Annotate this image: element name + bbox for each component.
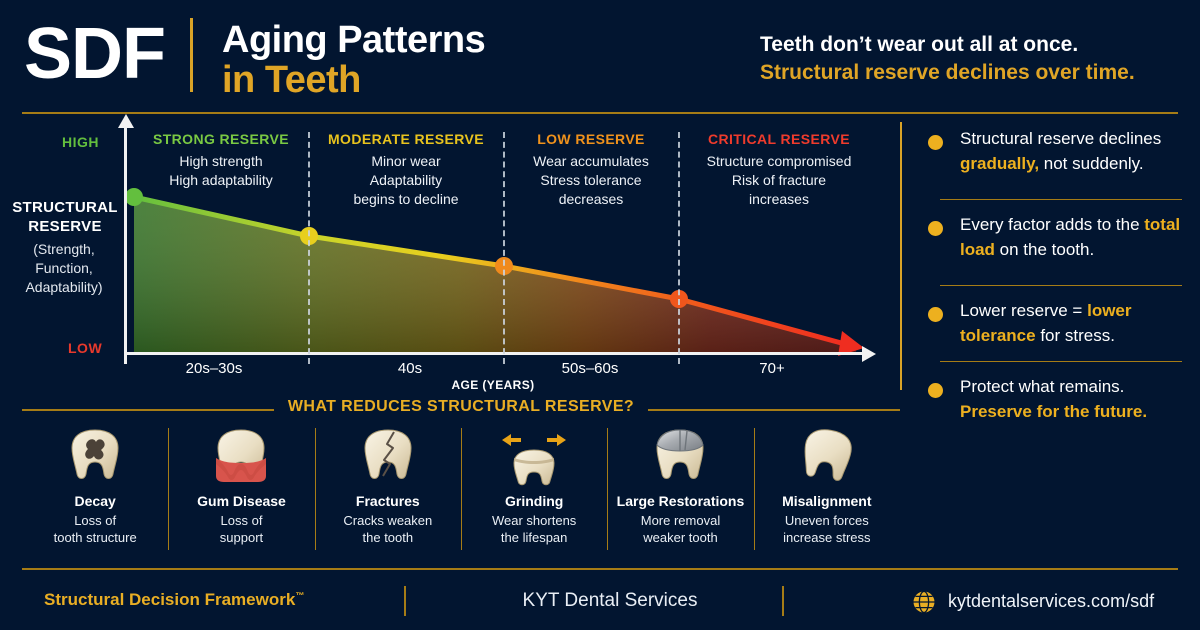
insight-separator xyxy=(940,199,1182,200)
tooth-crown-icon xyxy=(607,424,753,486)
tooth-decay-icon xyxy=(22,424,168,486)
reducer-name: Fractures xyxy=(315,492,461,510)
tagline-line1: Teeth don’t wear out all at once. xyxy=(760,32,1078,58)
tooth-misalignment-icon xyxy=(754,424,900,486)
reducer-desc: Cracks weakenthe tooth xyxy=(315,512,461,546)
y-axis-line xyxy=(124,126,127,364)
insight-item: Every factor adds to the total load on t… xyxy=(920,212,1182,278)
reducer-name: Decay xyxy=(22,492,168,510)
insight-item: Lower reserve = lower tolerance for stre… xyxy=(920,298,1182,354)
reducer-name: Misalignment xyxy=(754,492,900,510)
footer-separator-1 xyxy=(404,586,406,616)
bullet-dot-icon xyxy=(928,383,943,398)
globe-icon xyxy=(912,590,936,619)
page-title-line2: in Teeth xyxy=(222,60,361,100)
zone-moderate-reserve: MODERATE RESERVE Minor wear Adaptability… xyxy=(309,130,503,209)
structural-reserve-chart: HIGH LOW STRUCTURAL RESERVE (Strength, F… xyxy=(0,118,900,398)
bullet-dot-icon xyxy=(928,221,943,236)
reducer-large-restorations: Large Restorations More removalweaker to… xyxy=(607,424,753,556)
zone-low-reserve: LOW RESERVE Wear accumulates Stress tole… xyxy=(504,130,678,209)
footer-brand: Structural Decision Framework™ xyxy=(44,590,304,610)
insight-text: Protect what remains. Preserve for the f… xyxy=(960,374,1182,424)
reducer-desc: Loss ofsupport xyxy=(168,512,314,546)
zone-low-lines: Wear accumulates Stress tolerance decrea… xyxy=(504,152,678,209)
x-axis-arrow xyxy=(862,346,876,362)
insights-panel: Structural reserve declines gradually, n… xyxy=(920,126,1182,430)
reducers-heading: WHAT REDUCES STRUCTURAL RESERVE? xyxy=(22,398,900,416)
y-axis-arrow xyxy=(118,114,134,128)
insight-item: Protect what remains. Preserve for the f… xyxy=(920,374,1182,430)
zone-moderate-lines: Minor wear Adaptability begins to declin… xyxy=(309,152,503,209)
right-panel-divider xyxy=(900,122,902,390)
zone-critical-reserve: CRITICAL RESERVE Structure compromised R… xyxy=(679,130,879,209)
reducer-desc: Uneven forcesincrease stress xyxy=(754,512,900,546)
reducer-name: Gum Disease xyxy=(168,492,314,510)
insight-text: Structural reserve declines gradually, n… xyxy=(960,126,1182,176)
tooth-grinding-icon xyxy=(461,424,607,486)
zone-strong-reserve: STRONG RESERVE High strength High adapta… xyxy=(134,130,308,190)
tooth-fracture-icon xyxy=(315,424,461,486)
reducer-gum-disease: Gum Disease Loss ofsupport xyxy=(168,424,314,556)
reducer-desc: Loss oftooth structure xyxy=(22,512,168,546)
insight-text: Every factor adds to the total load on t… xyxy=(960,212,1182,262)
reducer-misalignment: Misalignment Uneven forcesincrease stres… xyxy=(754,424,900,556)
header: SDF Aging Patterns in Teeth Teeth don’t … xyxy=(0,0,1200,110)
bottom-rule xyxy=(22,568,1178,570)
reducer-desc: Wear shortensthe lifespan xyxy=(461,512,607,546)
reducer-decay: Decay Loss oftooth structure xyxy=(22,424,168,556)
x-tick-70plus: 70+ xyxy=(702,360,842,377)
x-tick-20s-30s: 20s–30s xyxy=(144,360,284,377)
reducer-grinding: Grinding Wear shortensthe lifespan xyxy=(461,424,607,556)
bullet-dot-icon xyxy=(928,135,943,150)
bullet-dot-icon xyxy=(928,307,943,322)
insight-separator xyxy=(940,361,1182,362)
footer-company: KYT Dental Services xyxy=(440,590,780,612)
zone-critical-lines: Structure compromised Risk of fracture i… xyxy=(679,152,879,209)
insight-separator xyxy=(940,285,1182,286)
reducer-fractures: Fractures Cracks weakenthe tooth xyxy=(315,424,461,556)
reducer-name: Grinding xyxy=(461,492,607,510)
footer-url[interactable]: kytdentalservices.com/sdf xyxy=(948,591,1154,612)
reducers-heading-band: WHAT REDUCES STRUCTURAL RESERVE? xyxy=(22,398,900,420)
x-tick-50s-60s: 50s–60s xyxy=(520,360,660,377)
insight-text: Lower reserve = lower tolerance for stre… xyxy=(960,298,1182,348)
reducer-name: Large Restorations xyxy=(607,492,753,510)
sdf-logo: SDF xyxy=(24,14,165,94)
footer-separator-2 xyxy=(782,586,784,616)
top-rule xyxy=(22,112,1178,114)
header-divider xyxy=(190,18,193,92)
x-axis-title: AGE (YEARS) xyxy=(398,378,588,392)
x-axis-line xyxy=(124,352,864,355)
zone-strong-lines: High strength High adaptability xyxy=(134,152,308,190)
reducer-desc: More removalweaker tooth xyxy=(607,512,753,546)
tagline-line2: Structural reserve declines over time. xyxy=(760,60,1135,86)
tooth-gum-disease-icon xyxy=(168,424,314,486)
x-tick-40s: 40s xyxy=(340,360,480,377)
footer: Structural Decision Framework™ KYT Denta… xyxy=(0,576,1200,630)
page-title-line1: Aging Patterns xyxy=(222,20,485,60)
reducers-list: Decay Loss oftooth structure Gum Disease… xyxy=(22,424,900,556)
insight-item: Structural reserve declines gradually, n… xyxy=(920,126,1182,192)
